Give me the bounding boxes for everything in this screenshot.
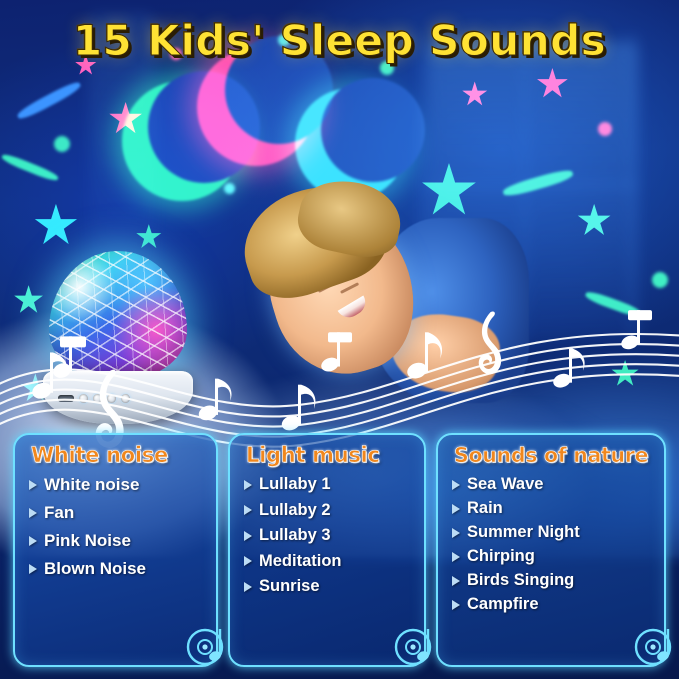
bullet-arrow-icon <box>452 600 460 610</box>
panel-header: Sounds of nature <box>454 443 656 467</box>
list-item-label: Campfire <box>467 595 539 614</box>
volume-button[interactable] <box>107 394 116 403</box>
page-title: 15 Kids' Sleep Sounds <box>0 16 679 65</box>
list-item[interactable]: Birds Singing <box>452 571 656 590</box>
bullet-arrow-icon <box>452 480 460 490</box>
product-infographic: 15 Kids' Sleep Sounds White noise White … <box>0 0 679 679</box>
list-item[interactable]: Sunrise <box>244 577 416 596</box>
projector-dome <box>49 251 186 379</box>
projector-controls[interactable] <box>58 392 178 404</box>
power-button[interactable] <box>79 394 88 403</box>
timer-button[interactable] <box>121 394 130 403</box>
list-item[interactable]: Meditation <box>244 552 416 571</box>
smiling-mouth <box>337 295 369 322</box>
panel-header: White noise <box>31 443 208 467</box>
list-item-label: Lullaby 2 <box>259 501 331 520</box>
list-item-label: Meditation <box>259 552 342 571</box>
list-item[interactable]: White noise <box>29 475 208 495</box>
closed-eye <box>340 282 359 294</box>
list-item[interactable]: Sea Wave <box>452 475 656 494</box>
list-item-label: Fan <box>44 503 74 523</box>
bullet-arrow-icon <box>29 536 37 546</box>
list-item-label: Sunrise <box>259 577 320 596</box>
star-projector-lamp <box>43 251 192 424</box>
list-item[interactable]: Summer Night <box>452 523 656 542</box>
list-item-label: Pink Noise <box>44 531 131 551</box>
bullet-arrow-icon <box>244 531 252 541</box>
list-item-label: Rain <box>467 499 503 518</box>
panel-white-noise[interactable]: White noise White noise Fan Pink Noise B… <box>13 433 218 667</box>
bullet-arrow-icon <box>452 504 460 514</box>
list-item-label: Summer Night <box>467 523 580 542</box>
list-item[interactable]: Fan <box>29 503 208 523</box>
list-item[interactable]: Chirping <box>452 547 656 566</box>
sound-list: Sea Wave Rain Summer Night Chirping Bird… <box>452 475 656 614</box>
sleeping-child <box>224 197 523 407</box>
list-item-label: Sea Wave <box>467 475 543 494</box>
bullet-arrow-icon <box>452 528 460 538</box>
list-item-label: Chirping <box>467 547 535 566</box>
list-item[interactable]: Rain <box>452 499 656 518</box>
bullet-arrow-icon <box>29 508 37 518</box>
music-disc-icon <box>632 619 679 669</box>
list-item[interactable]: Lullaby 3 <box>244 526 416 545</box>
list-item[interactable]: Pink Noise <box>29 531 208 551</box>
music-disc-icon <box>184 619 234 669</box>
bullet-arrow-icon <box>29 480 37 490</box>
panel-header: Light music <box>246 443 416 467</box>
list-item-label: White noise <box>44 475 139 495</box>
mode-button[interactable] <box>93 394 102 403</box>
list-item[interactable]: Lullaby 2 <box>244 501 416 520</box>
projector-base <box>43 371 192 425</box>
bullet-arrow-icon <box>29 564 37 574</box>
music-disc-icon <box>392 619 442 669</box>
bullet-arrow-icon <box>452 552 460 562</box>
bullet-arrow-icon <box>244 582 252 592</box>
bullet-arrow-icon <box>244 556 252 566</box>
list-item-label: Birds Singing <box>467 571 574 590</box>
bullet-arrow-icon <box>244 480 252 490</box>
panel-sounds-of-nature[interactable]: Sounds of nature Sea Wave Rain Summer Ni… <box>436 433 666 667</box>
sound-category-panels: White noise White noise Fan Pink Noise B… <box>13 433 666 667</box>
list-item[interactable]: Blown Noise <box>29 559 208 579</box>
usb-port-icon <box>58 395 74 402</box>
bullet-arrow-icon <box>244 505 252 515</box>
list-item-label: Blown Noise <box>44 559 146 579</box>
list-item[interactable]: Campfire <box>452 595 656 614</box>
list-item-label: Lullaby 1 <box>259 475 331 494</box>
sound-list: White noise Fan Pink Noise Blown Noise <box>29 475 208 579</box>
bullet-arrow-icon <box>452 576 460 586</box>
sound-list: Lullaby 1 Lullaby 2 Lullaby 3 Meditation… <box>244 475 416 596</box>
list-item[interactable]: Lullaby 1 <box>244 475 416 494</box>
panel-light-music[interactable]: Light music Lullaby 1 Lullaby 2 Lullaby … <box>228 433 426 667</box>
list-item-label: Lullaby 3 <box>259 526 331 545</box>
crackle-pattern <box>49 251 186 379</box>
